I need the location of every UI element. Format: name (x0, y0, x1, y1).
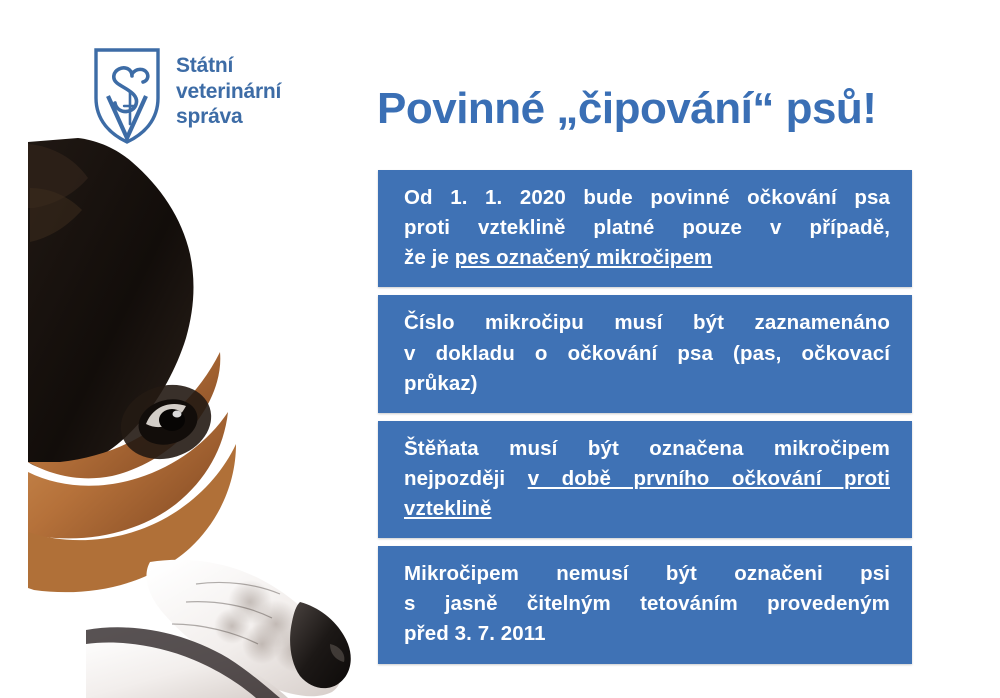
box-vaccination-requirement: Od 1. 1. 2020 bude povinné očkování psap… (378, 170, 912, 287)
message-line: že je pes označený mikročipem (404, 243, 890, 273)
message-text: Štěňata musí být označena mikročipem (404, 437, 890, 460)
message-line: před 3. 7. 2011 (404, 619, 890, 649)
message-line: s jasně čitelným tetováním provedeným (404, 589, 890, 619)
message-text: před 3. 7. 2011 (404, 622, 546, 645)
poster-root: Státní veterinární správa Povinné „čipov… (0, 0, 1000, 698)
message-text: Mikročipem nemusí být označeni psi (404, 562, 890, 585)
message-text: průkaz) (404, 372, 478, 395)
box-puppies-deadline: Štěňata musí být označena mikročipemnejp… (378, 421, 912, 538)
organization-name-line-2: veterinární (176, 79, 281, 105)
dog-photo (0, 132, 380, 698)
message-line: Od 1. 1. 2020 bude povinné očkování psa (404, 183, 890, 213)
message-line: proti vzteklině platné pouze v případě, (404, 213, 890, 243)
organization-name-line-1: Státní (176, 53, 281, 79)
message-line: Štěňata musí být označena mikročipem (404, 434, 890, 464)
emphasized-text: vzteklině (404, 497, 492, 520)
message-line: nejpozději v době prvního očkování proti (404, 464, 890, 494)
box-tattoo-exemption: Mikročipem nemusí být označeni psis jasn… (378, 546, 912, 663)
emphasized-text: pes označený mikročipem (455, 246, 713, 269)
message-line: Mikročipem nemusí být označeni psi (404, 559, 890, 589)
box-chip-number-record: Číslo mikročipu musí být zaznamenánov do… (378, 295, 912, 412)
message-text: že je (404, 246, 455, 269)
message-text: v dokladu o očkování psa (pas, očkovací (404, 342, 890, 365)
message-text: proti vzteklině platné pouze v případě, (404, 216, 890, 239)
page-title: Povinné „čipování“ psů! (377, 84, 876, 134)
organization-logo: Státní veterinární správa (92, 46, 281, 146)
message-line: v dokladu o očkování psa (pas, očkovací (404, 339, 890, 369)
message-line: Číslo mikročipu musí být zaznamenáno (404, 308, 890, 338)
message-line: vzteklině (404, 494, 890, 524)
message-line: průkaz) (404, 369, 890, 399)
message-text: Od 1. 1. 2020 bude povinné očkování psa (404, 186, 890, 209)
message-text: Číslo mikročipu musí být zaznamenáno (404, 311, 890, 334)
message-box-list: Od 1. 1. 2020 bude povinné očkování psap… (378, 170, 912, 672)
message-text: s jasně čitelným tetováním provedeným (404, 592, 890, 615)
message-text: nejpozději (404, 467, 528, 490)
organization-name: Státní veterinární správa (176, 53, 281, 130)
organization-name-line-3: správa (176, 104, 281, 130)
emphasized-text: v době prvního očkování proti (528, 467, 890, 490)
veterinary-shield-icon (92, 46, 162, 146)
